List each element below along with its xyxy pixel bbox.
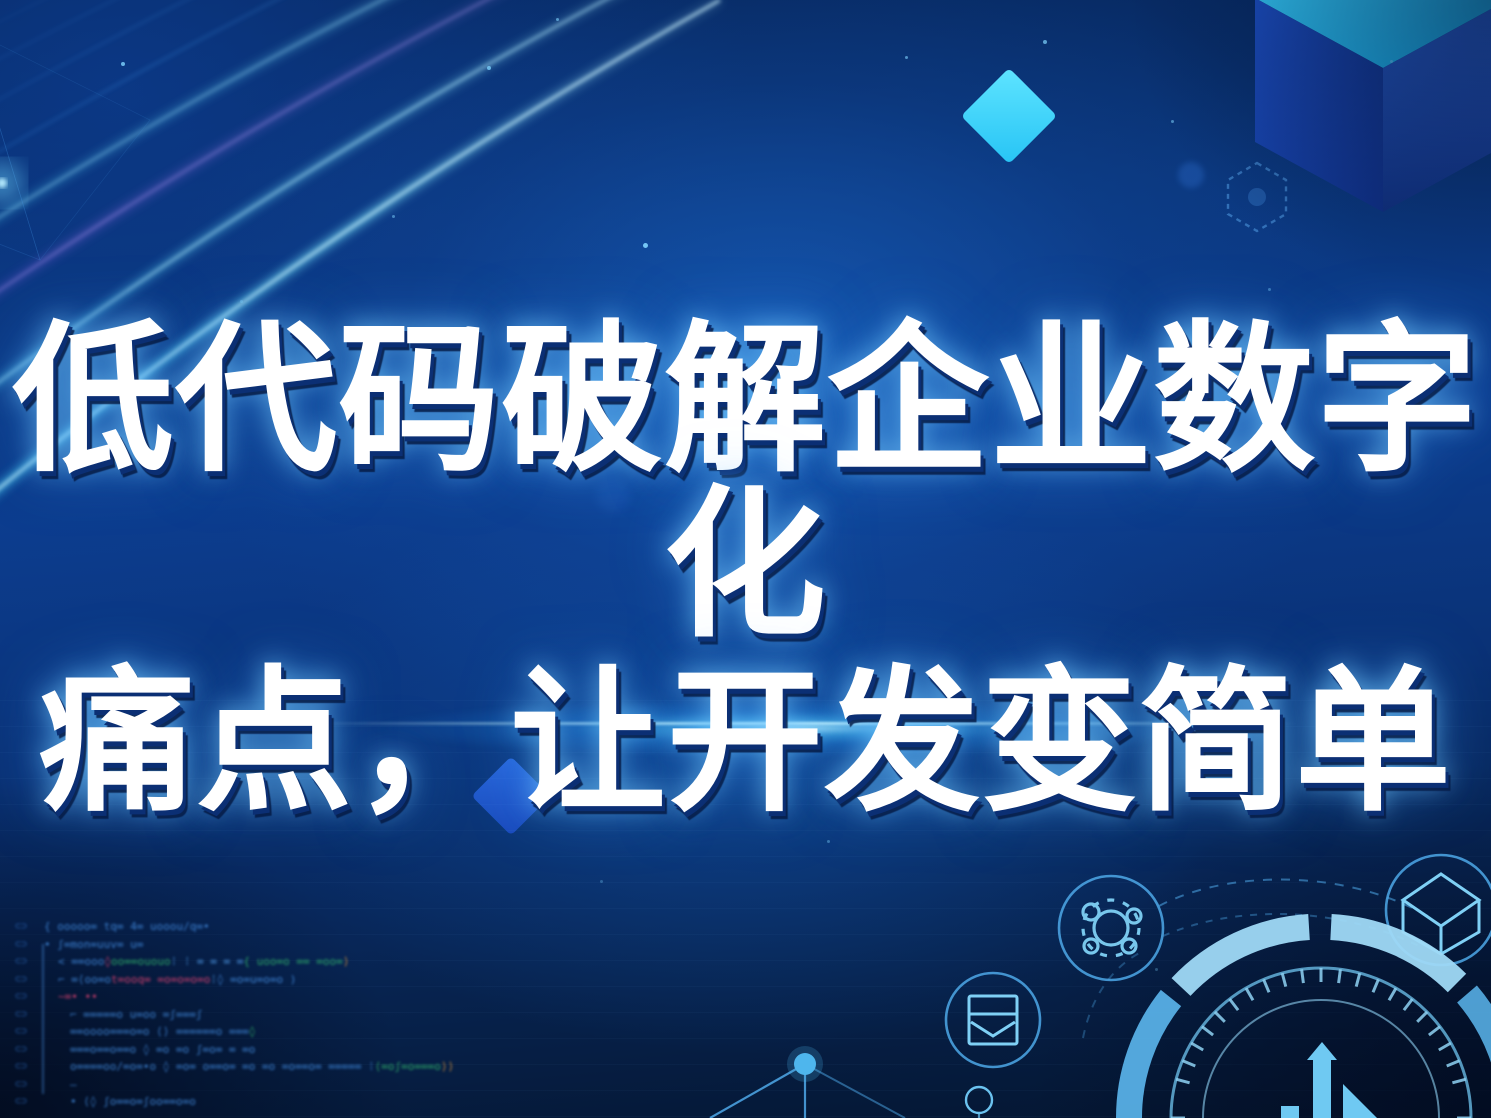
code-token: ⁞ [210, 971, 217, 989]
particle-dot [1043, 40, 1047, 44]
gauge-dashboard [1129, 927, 1491, 1118]
particle-dot [643, 243, 648, 248]
code-token: ⟨∞oʃ∞o∞∞∞o [375, 1058, 441, 1076]
code-gutter-icon: ⊂⊃ [6, 936, 36, 954]
code-token: ◊ [249, 1023, 256, 1041]
code-token: ⁞ ⁞ ∞ ∞ ∞ ∞ [171, 953, 244, 971]
code-token: ◊ [104, 953, 111, 971]
code-gutter-icon: ⊂⊃ [6, 918, 36, 936]
code-gutter-icon: ⊂⊃ [6, 1006, 36, 1024]
particle-dot [392, 215, 395, 218]
code-line: ⊂⊃⌐ ∞⟨oo∞o t∞ooq∞ ∞o∞o∞o∞o ⁞ ◊ ∞o∞u∞o∞o … [6, 971, 476, 989]
code-line: ⊂⊃• ʃ∞mon∞uuv∞ u∞ [6, 936, 476, 954]
particle-dot [487, 66, 491, 70]
code-token: t∞ooq∞ ∞o∞o∞o∞o [111, 971, 210, 989]
particle-dot [121, 62, 125, 66]
code-line: ⊂⊃∞∞∞o∞∞o∞∞o ◊ ∞o ∞o ʃ∞o∞ ∞ ∞o [6, 1041, 476, 1059]
code-token: oo∞∞ououo [111, 953, 171, 971]
code-line: ⊂⊃— [6, 1076, 476, 1094]
hud-decoration-group [931, 848, 1491, 1118]
code-line: ⊂⊃{ ooooo∞ tq∞ 4∞ uooou/q∞• [6, 918, 476, 936]
code-gutter-icon: ⊂⊃ [6, 953, 36, 971]
code-gutter-icon: ⊂⊃ [6, 1093, 36, 1111]
code-gutter-icon: ⊂⊃ [6, 1023, 36, 1041]
inbox-tray-icon [946, 973, 1040, 1067]
particle-dot [600, 880, 603, 883]
code-gutter-icon: ⊂⊃ [6, 1041, 36, 1059]
poster-canvas: 低代码破解企业数字化 痛点，让开发变简单 ⊂⊃{ ooooo∞ tq∞ 4∞ u… [0, 0, 1491, 1118]
code-gutter-icon: ⊂⊃ [6, 1076, 36, 1094]
blob-decoration [1178, 162, 1204, 188]
code-token: — [70, 1076, 77, 1094]
code-token: ~∞∙ ∙∙ [58, 988, 98, 1006]
particle-dot [556, 18, 559, 21]
code-line: ⊂⊃⌐ ∞∞∞∞∞o u∞oo ∞ʃ∞∞∞ʃ [6, 1006, 476, 1024]
code-gutter-icon: ⊂⊃ [6, 988, 36, 1006]
code-token: • ʃ∞mon∞uuv∞ u∞ [44, 936, 143, 954]
code-gutter-icon: ⊂⊃ [6, 1058, 36, 1076]
headline-line-1: 低代码破解企业数字化 [0, 318, 1491, 648]
network-node-decoration [690, 1038, 920, 1118]
small-node-icon [966, 1087, 992, 1118]
particle-dot [1268, 288, 1271, 291]
code-token: ⌐ ∞⟨oo∞o [58, 971, 111, 989]
code-rows: ⊂⊃{ ooooo∞ tq∞ 4∞ uooou/q∞•⊂⊃• ʃ∞mon∞uuv… [6, 918, 476, 1111]
code-token: ∞∞∞o∞∞o∞∞o ◊ ∞o ∞o ʃ∞o∞ ∞ ∞o [70, 1041, 255, 1059]
particle-dot [905, 56, 908, 59]
code-token: ⌐ ∞∞∞∞∞o u∞oo ∞ʃ∞∞∞ʃ [70, 1006, 202, 1024]
code-gutter-icon: ⊂⊃ [6, 971, 36, 989]
dashed-hex-ring-decoration [1218, 158, 1296, 236]
code-token: < ∞∞ooo [58, 953, 104, 971]
code-indent-guide [42, 944, 44, 1094]
code-line: ⊂⊃< ∞∞ooo ◊ oo∞∞ououo ⁞ ⁞ ∞ ∞ ∞ ∞ { uoo∞… [6, 953, 476, 971]
headline-block: 低代码破解企业数字化 痛点，让开发变简单 [0, 318, 1491, 824]
particle-dot [827, 840, 830, 843]
code-line: ⊂⊃o∞∞∞∞oo/∞o∞∙o ◊ ∞o∞ o∞∞o∞ ∞o ∞o ∞o∞∞o∞… [6, 1058, 476, 1076]
code-token: ◊ ∞o∞u∞o∞o ) [217, 971, 296, 989]
code-line: ⊂⊃• ⟨◊ ʃo∞∞o∞ʃoo∞∞o∞o [6, 1093, 476, 1111]
code-token: ∞∞oooo∞∞∞o∞o ⟨⟩ ∞∞∞∞∞∞o ∞∞∞ [70, 1023, 249, 1041]
code-token: o∞∞∞∞oo/∞o∞∙o ◊ ∞o∞ o∞∞o∞ ∞o ∞o ∞o∞∞o∞ ∞… [70, 1058, 375, 1076]
code-snippet-decoration: ⊂⊃{ ooooo∞ tq∞ 4∞ uooou/q∞•⊂⊃• ʃ∞mon∞uuv… [6, 918, 476, 1118]
code-token: { ooooo∞ tq∞ 4∞ uooou/q∞• [44, 918, 210, 936]
code-token: ⟩ [343, 953, 350, 971]
code-token: • ⟨◊ ʃo∞∞o∞ʃoo∞∞o∞o [70, 1093, 196, 1111]
particle-dot [1171, 120, 1174, 123]
particle-dot [1390, 60, 1393, 63]
code-line: ⊂⊃~∞∙ ∙∙ [6, 988, 476, 1006]
code-token: ⟩⟩ [441, 1058, 454, 1076]
particle-dot [240, 300, 243, 303]
code-line: ⊂⊃∞∞oooo∞∞∞o∞o ⟨⟩ ∞∞∞∞∞∞o ∞∞∞◊ [6, 1023, 476, 1041]
gear-molecule-icon [1059, 876, 1163, 980]
headline-line-2: 痛点，让开发变简单 [0, 664, 1491, 823]
code-token: { uoo∞o ∞∞ ∞oo∞ [243, 953, 342, 971]
